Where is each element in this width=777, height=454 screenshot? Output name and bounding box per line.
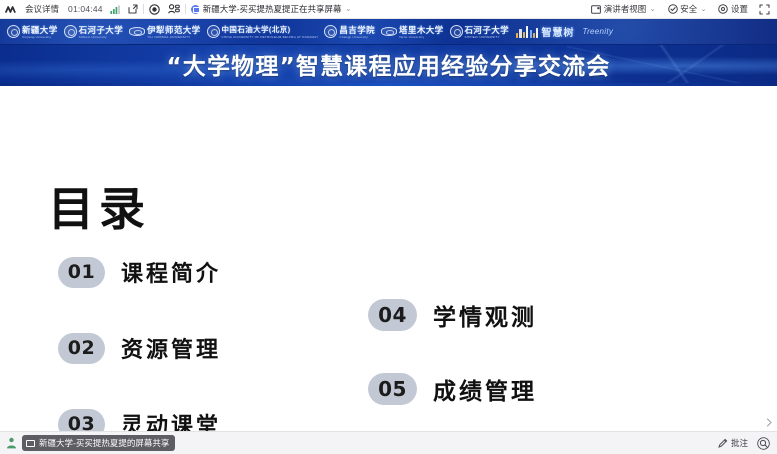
slide-body: 目录 01 课程简介 02 资源管理 03 灵动课堂 04 学情观测 bbox=[0, 86, 777, 431]
logo-name-cn: 石河子大学 bbox=[465, 25, 510, 35]
participants-icon[interactable] bbox=[168, 4, 180, 14]
sharing-user-indicator[interactable]: 新疆大学-买买提热夏提正在共享屏幕 ⌄ bbox=[191, 3, 352, 15]
meeting-detail-button[interactable]: 会议详情 bbox=[22, 2, 62, 16]
logo-item: 新疆大学 Xinjiang University bbox=[4, 19, 61, 45]
logo-name-en: Tarim University bbox=[399, 35, 444, 39]
logo-item: 石河子大学 Shihezi University bbox=[61, 19, 127, 45]
university-seal-icon bbox=[64, 25, 77, 38]
speaker-view-button[interactable]: 演讲者视图 ⌄ bbox=[588, 2, 658, 16]
annotate-label: 批注 bbox=[731, 437, 748, 449]
meeting-detail-label: 会议详情 bbox=[25, 3, 59, 15]
university-seal-icon bbox=[450, 25, 463, 38]
university-seal-icon bbox=[129, 27, 145, 36]
toc-number-badge: 02 bbox=[58, 333, 105, 364]
record-circle-icon[interactable] bbox=[149, 4, 160, 15]
toc-number-badge: 05 bbox=[368, 373, 417, 405]
sharing-user-label: 新疆大学-买买提热夏提正在共享屏幕 bbox=[203, 3, 342, 15]
list-item[interactable]: 04 学情观测 bbox=[368, 298, 537, 332]
logo-name-cn: 昌吉学院 bbox=[339, 25, 375, 35]
logo-name-cn: 石河子大学 bbox=[79, 25, 124, 35]
toc-label: 资源管理 bbox=[121, 332, 221, 364]
signal-bars-icon[interactable] bbox=[110, 5, 121, 14]
toc-label: 灵动课堂 bbox=[121, 408, 221, 431]
toc-column-right: 04 学情观测 05 成绩管理 bbox=[368, 298, 537, 431]
chevron-down-icon[interactable]: ⌄ bbox=[346, 5, 352, 13]
fullscreen-icon[interactable] bbox=[759, 4, 770, 15]
list-item[interactable]: 01 课程简介 bbox=[58, 256, 221, 288]
brand-name-cn: 智慧树 bbox=[541, 24, 574, 39]
logo-name-cn: 伊犁师范大学 bbox=[147, 25, 200, 35]
toc-column-left: 01 课程简介 02 资源管理 03 灵动课堂 bbox=[58, 256, 221, 431]
share-screen-app-icon[interactable] bbox=[6, 437, 17, 449]
speaker-view-label: 演讲者视图 bbox=[604, 3, 647, 15]
logo-name-cn: 新疆大学 bbox=[22, 25, 58, 35]
security-button[interactable]: 安全 ⌄ bbox=[665, 2, 710, 16]
university-seal-icon bbox=[381, 27, 397, 36]
logo-name-en: YILI NORMAL UNIVERSITY bbox=[147, 35, 200, 39]
logo-item: 昌吉学院 Changji University bbox=[321, 19, 378, 45]
university-seal-icon bbox=[207, 25, 220, 38]
annotate-button[interactable]: 批注 bbox=[714, 435, 752, 451]
toc-label: 成绩管理 bbox=[433, 372, 537, 406]
popout-window-icon[interactable] bbox=[128, 4, 138, 14]
shield-check-icon bbox=[668, 4, 678, 14]
logo-name-en: Xinjiang University bbox=[22, 35, 58, 39]
toolbar-divider-2 bbox=[185, 4, 186, 14]
brand-bars-icon bbox=[516, 26, 538, 38]
university-seal-icon bbox=[7, 25, 20, 38]
conference-title-banner: “大学物理”智慧课程应用经验分享交流会 bbox=[0, 45, 777, 83]
chevron-down-icon-2: ⌄ bbox=[650, 5, 656, 13]
magnifier-icon[interactable] bbox=[756, 436, 771, 451]
taskbar: 新疆大学-买买提热夏提的屏幕共享 批注 bbox=[0, 431, 777, 454]
conference-title: “大学物理”智慧课程应用经验分享交流会 bbox=[166, 47, 610, 81]
toc-number-badge: 03 bbox=[58, 409, 105, 432]
logo-item: 塔里木大学 Tarim University bbox=[378, 19, 447, 45]
pen-icon bbox=[718, 438, 728, 448]
logo-name-en: SHIHEZI UNIVERSITY bbox=[465, 35, 510, 39]
brand-name-en: Treenity bbox=[582, 27, 613, 36]
meeting-top-bar: 会议详情 01:04:44 bbox=[0, 0, 777, 19]
toolbar-divider bbox=[143, 4, 144, 14]
list-item[interactable]: 02 资源管理 bbox=[58, 332, 221, 364]
list-item[interactable]: 03 灵动课堂 bbox=[58, 408, 221, 431]
share-screen-icon bbox=[26, 440, 35, 447]
meeting-logo-icon bbox=[5, 4, 18, 15]
settings-button[interactable]: 设置 bbox=[715, 2, 751, 16]
logo-name-cn: 中国石油大学(北京) bbox=[222, 25, 319, 35]
layout-icon bbox=[591, 5, 601, 14]
zhihuishu-brand: 智慧树 Treenity bbox=[516, 24, 613, 39]
gear-icon bbox=[718, 4, 728, 14]
settings-label: 设置 bbox=[731, 3, 748, 15]
toc-number-badge: 01 bbox=[58, 257, 105, 288]
meeting-timer: 01:04:44 bbox=[68, 4, 103, 14]
university-seal-icon bbox=[324, 25, 337, 38]
page-title: 目录 bbox=[48, 186, 150, 232]
chevron-down-icon-3: ⌄ bbox=[701, 5, 707, 13]
screen-share-window: 会议详情 01:04:44 bbox=[0, 0, 777, 454]
taskbar-share-label: 新疆大学-买买提热夏提的屏幕共享 bbox=[39, 437, 169, 449]
security-label: 安全 bbox=[680, 3, 697, 15]
logo-item: 伊犁师范大学 YILI NORMAL UNIVERSITY bbox=[126, 19, 203, 45]
shared-slide-area: 新疆大学 Xinjiang University 石河子大学 Shihezi U… bbox=[0, 19, 777, 431]
logo-name-en: CHINA UNIVERSITY OF PETROLEUM-BEIJING AT… bbox=[222, 35, 319, 39]
toc-label: 课程简介 bbox=[121, 256, 221, 288]
share-avatar-icon bbox=[191, 5, 200, 14]
taskbar-share-item[interactable]: 新疆大学-买买提热夏提的屏幕共享 bbox=[22, 435, 175, 451]
logo-item: 石河子大学 SHIHEZI UNIVERSITY bbox=[447, 19, 513, 45]
toc-number-badge: 04 bbox=[368, 299, 417, 331]
university-logo-strip: 新疆大学 Xinjiang University 石河子大学 Shihezi U… bbox=[0, 19, 777, 45]
logo-name-en: Changji University bbox=[339, 35, 375, 39]
list-item[interactable]: 05 成绩管理 bbox=[368, 372, 537, 406]
logo-name-cn: 塔里木大学 bbox=[399, 25, 444, 35]
toc-label: 学情观测 bbox=[433, 298, 537, 332]
logo-name-en: Shihezi University bbox=[79, 35, 124, 39]
logo-item: 中国石油大学(北京) CHINA UNIVERSITY OF PETROLEUM… bbox=[204, 19, 322, 45]
chevron-right-icon[interactable] bbox=[763, 416, 775, 428]
